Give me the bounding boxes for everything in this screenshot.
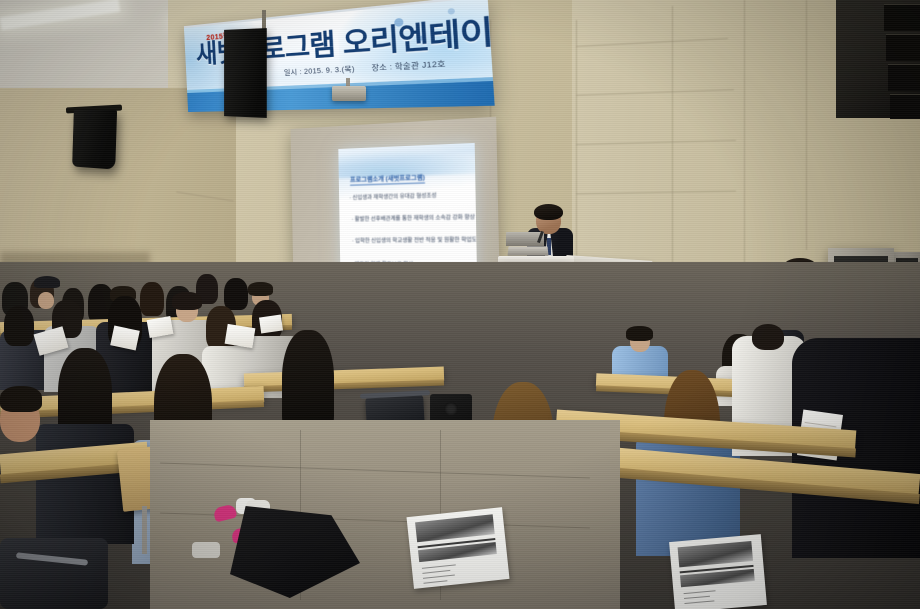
student-hair [224, 278, 248, 310]
handout-foreground [669, 534, 767, 609]
wall-dark-slat [886, 34, 920, 61]
wall-dark-slat [884, 4, 920, 31]
ceiling-speaker [224, 28, 267, 118]
student-torso-dark [36, 424, 134, 544]
handout-text-line [423, 580, 447, 584]
laptop-keyboard[interactable] [507, 246, 548, 255]
handout-paper [259, 315, 283, 334]
handout-image [678, 541, 753, 567]
student-head [752, 324, 784, 350]
student-cap [34, 276, 60, 288]
student-hair [172, 292, 202, 310]
handout-text-line [422, 564, 456, 569]
wall-dark-slat [890, 94, 920, 119]
slide-title: 프로그램소개 (새벗프로그램) [350, 171, 425, 185]
student-hair [248, 282, 273, 296]
student-hair [626, 326, 653, 341]
handout-text-line [422, 570, 450, 574]
student-hair [0, 386, 42, 412]
handout-text-line [684, 600, 714, 604]
student-head [38, 292, 54, 309]
wall-dark-slat [888, 64, 920, 91]
wall-panel-seam [744, 0, 745, 300]
wall-speaker-left [72, 110, 117, 170]
wall-panel-seam [672, 6, 673, 296]
presenter-hair [534, 204, 563, 220]
lecture-hall-photo: 2015학년도 2학기 새벗프로그램 오리엔테이션 일시 : 2015. 9. … [0, 0, 920, 609]
backpack [0, 538, 108, 609]
handout-text-line [684, 596, 710, 599]
shoe [192, 542, 220, 558]
student-hair [140, 282, 164, 316]
handout-paper [225, 324, 256, 348]
wall-panel-seam [806, 0, 807, 250]
slide-bullet: · 신입생과 재학생간의 유대감 형성조성 [349, 193, 436, 202]
handout-image [415, 514, 495, 542]
speaker-cone [444, 402, 458, 416]
slide-bullet: · 활발한 선후배관계를 통한 재학생의 소속감 강화 향상 [352, 215, 475, 224]
handout-text-line [684, 590, 716, 594]
handout-foreground [406, 507, 509, 589]
chair-leg [142, 506, 147, 554]
slide-bullet: · 입학한 신입생의 학교생활 전반 적응 및 원활한 학업도 제공 [352, 237, 477, 245]
ceiling-projector [332, 86, 366, 101]
handout-text-line [423, 574, 455, 578]
wall-panel-seam [576, 20, 577, 280]
student-hair [4, 306, 34, 346]
